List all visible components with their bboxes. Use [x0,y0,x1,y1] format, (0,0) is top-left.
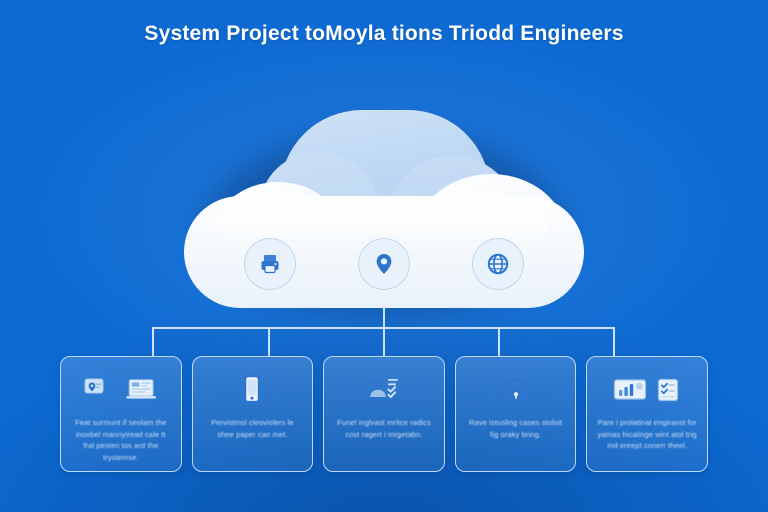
smartphone-icon [235,375,269,405]
page-title: System Project toMoyla tions Triodd Engi… [0,22,768,46]
card-description: Rave istusling cases stoloit fig oraky b… [466,417,566,440]
card-description: Pervistmsl cleoviolers le shee paper can… [203,417,303,440]
connector-drop-4 [498,327,500,357]
card-security-lock[interactable]: Rave istusling cases stoloit fig oraky b… [455,356,577,472]
card-row: Feat surmunt if seolam the inoxbel manny… [60,356,708,472]
globe-icon[interactable] [472,238,524,290]
diagram-canvas: System Project toMoyla tions Triodd Engi… [0,0,768,512]
connector-drop-5 [613,327,615,357]
card-icon-row [597,369,697,411]
bar-chart-icon [613,375,647,405]
card-description: Funel inglvast mritce radics cost ragert… [334,417,434,440]
printer-icon[interactable] [244,238,296,290]
map-pin-card-icon [83,375,117,405]
checklist-icon [655,377,681,403]
connector-trunk [383,306,385,328]
card-user-profile[interactable]: Funel inglvast mritce radics cost ragert… [323,356,445,472]
card-icon-row [71,369,171,411]
location-pin-icon[interactable] [358,238,410,290]
card-field-mapping[interactable]: Feat surmunt if seolam the inoxbel manny… [60,356,182,472]
connector-drop-1 [152,327,154,357]
card-mobile-device[interactable]: Pervistmsl cleoviolers le shee paper can… [192,356,314,472]
connector-drop-2 [268,327,270,357]
card-description: Feat surmunt if seolam the inoxbel manny… [71,417,171,464]
connector-drop-3 [383,327,385,357]
lock-icon [499,375,533,405]
card-icon-row [466,369,566,411]
card-description: Pare i prolatinal engiranst for yatnas h… [597,417,697,452]
card-icon-row [203,369,303,411]
user-profile-icon [367,375,401,405]
cloud-platform-node [184,104,584,316]
laptop-icon [125,375,159,405]
card-icon-row [334,369,434,411]
card-analytics-checklist[interactable]: Pare i prolatinal engiranst for yatnas h… [586,356,708,472]
cloud-icon-row [244,236,524,292]
